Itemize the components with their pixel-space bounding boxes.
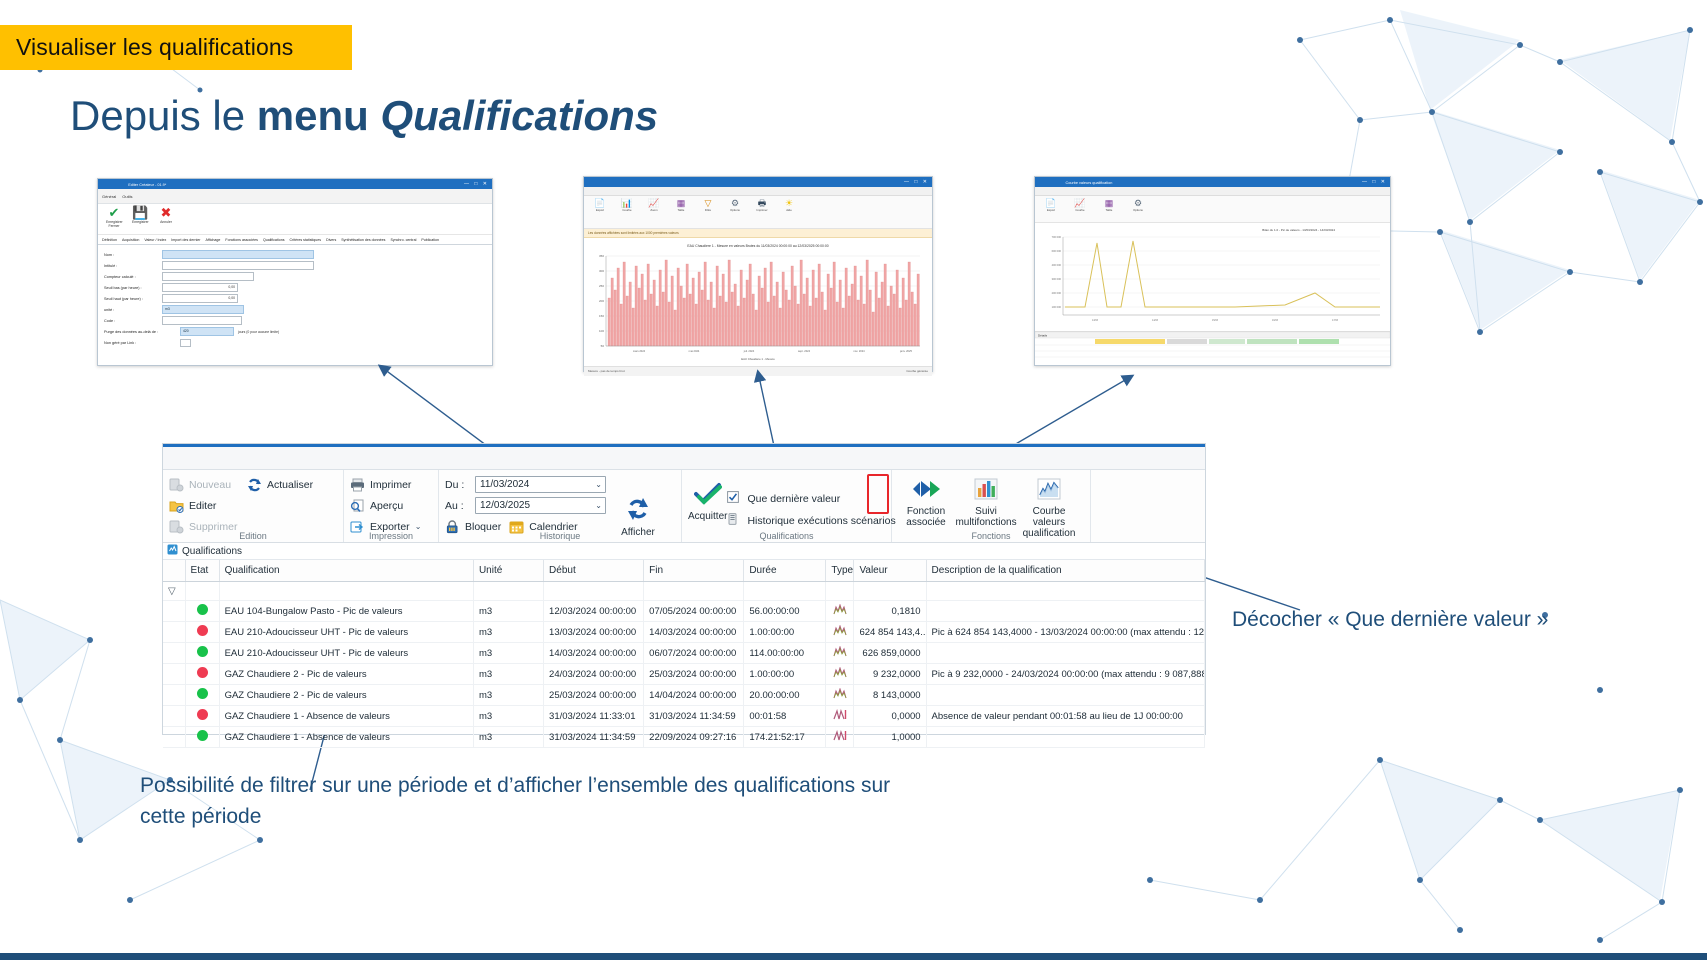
thumb1-label-intitule: Intitulé : xyxy=(104,264,162,268)
svg-text:400 000: 400 000 xyxy=(1052,263,1062,267)
cell-fin: 14/04/2024 00:00:00 xyxy=(644,685,744,706)
svg-text:15/03: 15/03 xyxy=(1212,319,1219,322)
table-header-spacer xyxy=(163,560,185,582)
svg-text:mai 2024: mai 2024 xyxy=(689,349,700,353)
cell-duree: 1.00:00:00 xyxy=(744,622,826,643)
thumb3-icon-chart[interactable]: 📈Courbe xyxy=(1070,198,1090,222)
checkbox-historique-label: Historique exécutions scénarios xyxy=(747,515,895,527)
thumb2-bar-chart-svg: EAU Chaudiere 1 - Mesure en valeurs Brut… xyxy=(584,238,932,366)
svg-text:juil. 2024: juil. 2024 xyxy=(743,349,755,353)
thumb1-tab-7[interactable]: Critères statistiques xyxy=(290,238,322,242)
thumb2-icon-print[interactable]: 🖶Imprimer xyxy=(752,198,772,228)
svg-text:EAU Chaudiere 1 - Mesure en va: EAU Chaudiere 1 - Mesure en valeurs Brut… xyxy=(687,244,828,248)
thumb2-icon-chart2[interactable]: 📈Zoom xyxy=(644,198,664,228)
table-row[interactable]: GAZ Chaudiere 1 - Absence de valeursm331… xyxy=(163,706,1205,727)
button-suivi-multifonctions-label: Suivi multifonctions xyxy=(955,506,1016,528)
ribbon-group-edition: Nouveau Actualiser Editer Supprimer xyxy=(163,470,344,542)
cell-type xyxy=(826,643,854,664)
thumb1-tab-9[interactable]: Synthétisation des données xyxy=(341,238,385,242)
slide-subtitle: Depuis le menu Qualifications xyxy=(70,92,658,140)
svg-text:Bilan du 1.0 - Pic de valeurs: Bilan du 1.0 - Pic de valeurs - 13/03/20… xyxy=(1262,228,1335,232)
annotation-bottom: Possibilité de filtrer sur une période e… xyxy=(140,770,940,832)
thumb1-input-seuilbas[interactable]: 0,00 xyxy=(162,283,238,292)
thumb1-input-code[interactable] xyxy=(162,316,242,325)
thumb1-tab-5[interactable]: Fonctions associées xyxy=(225,238,258,242)
thumb3-menubar[interactable] xyxy=(1035,187,1390,196)
table-row[interactable]: EAU 210-Adoucisseur UHT - Pic de valeurs… xyxy=(163,643,1205,664)
thumb1-label-nongere: Non géré par Link : xyxy=(104,341,180,345)
cell-description: Absence de valeur pendant 00:01:58 au li… xyxy=(926,706,1204,727)
peak-icon xyxy=(833,606,847,618)
subtitle-prefix: Depuis le xyxy=(70,92,257,139)
cell-debut: 13/03/2024 00:00:00 xyxy=(544,622,644,643)
app-ribbon[interactable]: Nouveau Actualiser Editer Supprimer xyxy=(163,470,1205,543)
app-tab-strip[interactable] xyxy=(163,447,1205,470)
cell-etat xyxy=(185,643,219,664)
thumb1-ribbon-tabs[interactable]: Général Outils xyxy=(98,189,492,204)
button-actualiser[interactable]: Actualiser xyxy=(247,474,313,495)
date-to-value: 12/03/2025 xyxy=(480,500,530,511)
status-dot-red xyxy=(197,625,208,636)
row-gutter xyxy=(163,664,185,685)
row-gutter xyxy=(163,643,185,664)
cell-etat xyxy=(185,664,219,685)
date-from-combo[interactable]: 11/03/2024 ⌄ xyxy=(475,476,606,493)
date-to-row: Au : 12/03/2025 ⌄ xyxy=(445,495,606,516)
thumb2-icon-export[interactable]: 📄Export xyxy=(590,198,610,228)
thumb1-tab-2[interactable]: Valeur / Index xyxy=(144,238,166,242)
table-header-duree[interactable]: Durée xyxy=(744,560,826,582)
filter-cell-unite[interactable] xyxy=(473,582,543,601)
filter-cell-debut[interactable] xyxy=(544,582,644,601)
thumb1-tab-8[interactable]: Divers xyxy=(326,238,336,242)
thumb2-icon-table[interactable]: ▦Table xyxy=(671,198,691,228)
thumbnail-bar-chart-window[interactable]: — □ ✕ 📄Export 📊Courbe 📈Zoom ▦Table ▽Filt… xyxy=(583,176,933,372)
ribbon-group-historique-title: Historique xyxy=(439,531,681,541)
cell-unite: m3 xyxy=(473,727,543,748)
ribbon-group-qualifications: Acquitter Que dernière valeur Historique… xyxy=(682,470,892,542)
thumb1-titlebar: Editer Créateur - 01.9* — □ ✕ xyxy=(98,179,492,189)
cell-debut: 14/03/2024 00:00:00 xyxy=(544,643,644,664)
cell-unite: m3 xyxy=(473,601,543,622)
svg-text:200: 200 xyxy=(599,299,604,303)
cell-debut: 25/03/2024 00:00:00 xyxy=(544,685,644,706)
svg-text:350: 350 xyxy=(599,254,604,258)
table-header-type[interactable]: Type xyxy=(826,560,854,582)
svg-text:17/03: 17/03 xyxy=(1332,319,1339,322)
thumb3-grid-svg: Détails xyxy=(1035,332,1390,362)
checkbox-historique-executions-scenarios[interactable]: Historique exécutions scénarios xyxy=(727,510,895,532)
preview-magnifier-icon xyxy=(350,499,365,513)
absence-icon xyxy=(833,732,847,744)
bar-chart-icon xyxy=(973,477,999,506)
thumb2-icon-filter[interactable]: ▽Filtre xyxy=(698,198,718,228)
cell-type xyxy=(826,601,854,622)
cell-valeur: 0,0000 xyxy=(854,706,926,727)
svg-text:600 000: 600 000 xyxy=(1052,249,1062,253)
filter-cell-fin[interactable] xyxy=(644,582,744,601)
chevron-down-icon[interactable]: ⌄ xyxy=(595,480,602,489)
svg-text:14/03: 14/03 xyxy=(1152,319,1159,322)
status-dot-red xyxy=(197,709,208,720)
cell-qualification: GAZ Chaudiere 1 - Absence de valeurs xyxy=(219,727,473,748)
cell-duree: 00:01:58 xyxy=(744,706,826,727)
thumb1-input-purge[interactable]: 420 xyxy=(180,327,234,336)
row-gutter xyxy=(163,685,185,706)
cell-type xyxy=(826,706,854,727)
slide-bottom-bar xyxy=(0,953,1707,960)
table-header-qualification[interactable]: Qualification xyxy=(219,560,473,582)
cell-unite: m3 xyxy=(473,685,543,706)
cell-duree: 56.00:00:00 xyxy=(744,601,826,622)
thumb1-title: Editer Créateur - 01.9* xyxy=(100,182,167,187)
filter-toggle-cell[interactable]: ▽ xyxy=(163,582,185,601)
thumb3-icon-export[interactable]: 📄Export xyxy=(1041,198,1061,222)
button-editer[interactable]: Editer xyxy=(169,495,337,516)
svg-text:nov. 2024: nov. 2024 xyxy=(853,349,865,353)
thumb1-field-row: Seuil haut (par heure) :0,00 xyxy=(104,293,486,304)
cell-fin: 22/09/2024 09:27:16 xyxy=(644,727,744,748)
thumb2-ribbon[interactable]: 📄Export 📊Courbe 📈Zoom ▦Table ▽Filtre ⚙Op… xyxy=(584,196,932,229)
chevron-down-icon[interactable]: ⌄ xyxy=(415,522,422,531)
thumb1-input-intitule[interactable] xyxy=(162,261,314,270)
status-dot-green xyxy=(197,730,208,741)
ribbon-group-fonctions: Fonction associée Suivi multifonctions C… xyxy=(892,470,1091,542)
thumb1-field-row: Code : xyxy=(104,315,486,326)
thumb3-titlebar: Courbe valeurs qualification — □ ✕ xyxy=(1035,177,1390,187)
cell-qualification: EAU 104-Bungalow Pasto - Pic de valeurs xyxy=(219,601,473,622)
cell-qualification: GAZ Chaudiere 2 - Pic de valeurs xyxy=(219,664,473,685)
thumb1-tab-10[interactable]: Synchro. central xyxy=(390,238,416,242)
thumbnail-line-chart-window[interactable]: Courbe valeurs qualification — □ ✕ 📄Expo… xyxy=(1034,176,1391,366)
cell-qualification: GAZ Chaudiere 1 - Absence de valeurs xyxy=(219,706,473,727)
thumb2-statusbar: Mesure - pas de temps brut Courbe généré… xyxy=(584,366,932,376)
button-nouveau-label: Nouveau xyxy=(189,479,231,491)
cell-etat xyxy=(185,727,219,748)
ribbon-group-fonctions-title: Fonctions xyxy=(892,531,1090,541)
ribbon-group-qualifications-title: Qualifications xyxy=(682,531,891,541)
check-mark-icon xyxy=(694,482,722,511)
cell-etat xyxy=(185,601,219,622)
cell-type xyxy=(826,622,854,643)
cell-unite: m3 xyxy=(473,622,543,643)
thumb1-cancel-icon[interactable]: ✖Annuler xyxy=(158,206,174,234)
cell-qualification: EAU 210-Adoucisseur UHT - Pic de valeurs xyxy=(219,622,473,643)
thumb3-line-chart-svg: Bilan du 1.0 - Pic de valeurs - 13/03/20… xyxy=(1035,223,1390,331)
thumb3-chart-area: Bilan du 1.0 - Pic de valeurs - 13/03/20… xyxy=(1035,223,1390,331)
status-dot-green xyxy=(197,688,208,699)
thumb1-label-purge: Purge des données au-delà de : xyxy=(104,330,180,334)
thumb1-tab-outils[interactable]: Outils xyxy=(122,194,132,199)
annotation-right: Décocher « Que dernière valeur » xyxy=(1232,604,1552,635)
date-from-row: Du : 11/03/2024 ⌄ xyxy=(445,474,606,495)
cell-etat xyxy=(185,685,219,706)
table-header-row: Etat Qualification Unité Début Fin Durée… xyxy=(163,560,1205,582)
peak-icon xyxy=(833,690,847,702)
thumb1-label-seuilbas: Seuil bas (par heure) : xyxy=(104,286,162,290)
table-row[interactable]: GAZ Chaudiere 2 - Pic de valeursm324/03/… xyxy=(163,664,1205,685)
date-to-label: Au : xyxy=(445,500,471,512)
ribbon-group-historique: Du : 11/03/2024 ⌄ Au : 12/03/2025 ⌄ xyxy=(439,470,682,542)
thumb2-icon-help[interactable]: ☀Aide xyxy=(779,198,799,228)
date-to-combo[interactable]: 12/03/2025 ⌄ xyxy=(475,497,606,514)
refresh-icon xyxy=(247,478,262,492)
status-dot-green xyxy=(197,604,208,615)
filter-cell-type[interactable] xyxy=(826,582,854,601)
ribbon-filler xyxy=(1091,470,1205,542)
subtitle-bold: menu xyxy=(257,92,381,139)
checkbox-icon[interactable] xyxy=(727,491,741,506)
checkbox-que-derniere-valeur-label: Que dernière valeur xyxy=(747,493,840,505)
document-tab-bar[interactable]: Qualifications xyxy=(163,543,1205,560)
slide-title-band: Visualiser les qualifications xyxy=(0,25,352,70)
thumb1-tab-general[interactable]: Général xyxy=(102,194,116,199)
button-apercu-label: Aperçu xyxy=(370,500,403,512)
double-chevron-icon xyxy=(911,477,941,506)
thumb2-icon-chart1[interactable]: 📊Courbe xyxy=(617,198,637,228)
svg-text:EAU Chaudiere 1 - Mesure: EAU Chaudiere 1 - Mesure xyxy=(741,357,775,361)
table-body: ▽ EAU 104-Bungalow Pasto - Pic de valeur… xyxy=(163,582,1205,748)
thumb1-input-nom[interactable] xyxy=(162,250,314,259)
thumb1-label-unite: unité : xyxy=(104,308,162,312)
thumb3-title: Courbe valeurs qualification xyxy=(1037,180,1112,185)
peak-icon xyxy=(833,627,847,639)
thumb1-tab-strip[interactable]: Définition Acquisition Valeur / Index Im… xyxy=(98,235,492,245)
thumb2-warning-banner: Les données affichées sont limitées aux … xyxy=(584,229,932,238)
cell-type xyxy=(826,685,854,706)
svg-text:janv. 2025: janv. 2025 xyxy=(899,349,912,353)
row-gutter xyxy=(163,706,185,727)
thumb2-status-right: Courbe générée xyxy=(906,367,932,376)
filter-cell-etat[interactable] xyxy=(185,582,219,601)
thumb1-label-nom: Nom : xyxy=(104,253,162,257)
scenario-history-icon xyxy=(727,513,741,528)
cell-unite: m3 xyxy=(473,664,543,685)
refresh-arrows-icon xyxy=(625,496,651,527)
button-imprimer[interactable]: Imprimer xyxy=(350,474,432,495)
area-chart-icon xyxy=(1036,477,1062,506)
thumb1-field-row: Non géré par Link : xyxy=(104,337,486,348)
cell-unite: m3 xyxy=(473,643,543,664)
cell-etat xyxy=(185,622,219,643)
thumb1-purge-suffix: jours (0 pour aucune limite) xyxy=(238,330,279,334)
filter-cell-qualification[interactable] xyxy=(219,582,473,601)
cell-fin: 31/03/2024 11:34:59 xyxy=(644,706,744,727)
thumb1-label-compteur: Compteur calculé : xyxy=(104,275,162,279)
svg-text:Détails: Détails xyxy=(1038,333,1048,337)
table-row[interactable]: GAZ Chaudiere 1 - Absence de valeursm331… xyxy=(163,727,1205,748)
table-row[interactable]: EAU 104-Bungalow Pasto - Pic de valeursm… xyxy=(163,601,1205,622)
button-actualiser-label: Actualiser xyxy=(267,479,313,491)
table-row[interactable]: GAZ Chaudiere 2 - Pic de valeursm325/03/… xyxy=(163,685,1205,706)
thumb3-icon-settings[interactable]: ⚙Options xyxy=(1128,198,1148,222)
peak-icon xyxy=(833,648,847,660)
thumb1-input-unite[interactable]: m3 xyxy=(162,305,244,314)
slide-title-text: Visualiser les qualifications xyxy=(0,25,352,70)
thumb2-menubar[interactable] xyxy=(584,187,932,196)
svg-text:sept. 2024: sept. 2024 xyxy=(798,349,811,353)
cell-description: Pic à 9 232,0000 - 24/03/2024 00:00:00 (… xyxy=(926,664,1204,685)
table-header-etat[interactable]: Etat xyxy=(185,560,219,582)
cell-unite: m3 xyxy=(473,706,543,727)
cell-fin: 06/07/2024 00:00:00 xyxy=(644,643,744,664)
button-editer-label: Editer xyxy=(189,500,216,512)
thumb1-field-row: Purge des données au-delà de :420jours (… xyxy=(104,326,486,337)
thumb1-field-row: unité :m3 xyxy=(104,304,486,315)
thumb1-ribbon-buttons[interactable]: ✔EnregistrerFermer 💾Enregistrer ✖Annuler xyxy=(98,204,492,235)
cell-duree: 1.00:00:00 xyxy=(744,664,826,685)
thumb1-label-seuilhaut: Seuil haut (par heure) : xyxy=(104,297,162,301)
thumb1-save-close-icon[interactable]: ✔EnregistrerFermer xyxy=(106,206,122,234)
button-fonction-associee-label: Fonction associée xyxy=(898,506,954,528)
checkbox-que-derniere-valeur[interactable]: Que dernière valeur xyxy=(727,488,895,510)
thumb2-window-controls[interactable]: — □ ✕ xyxy=(904,179,932,185)
cell-debut: 24/03/2024 00:00:00 xyxy=(544,664,644,685)
thumb1-form: Nom : Intitulé : Compteur calculé : Seui… xyxy=(98,245,492,352)
ribbon-group-impression: Imprimer Aperçu Exporter ⌄ Impression xyxy=(344,470,439,542)
cell-description xyxy=(926,685,1204,706)
ribbon-group-edition-title: Edition xyxy=(163,531,343,541)
thumb1-tab-3[interactable]: Import des dernier xyxy=(171,238,200,242)
thumb3-icon-table[interactable]: ▦Table xyxy=(1099,198,1119,222)
date-from-label: Du : xyxy=(445,479,471,491)
thumb1-field-row: Compteur calculé : xyxy=(104,271,486,282)
document-tab-label: Qualifications xyxy=(182,546,242,557)
filter-cell-valeur[interactable] xyxy=(854,582,926,601)
table-header-debut[interactable]: Début xyxy=(544,560,644,582)
status-dot-green xyxy=(197,646,208,657)
thumb2-status-left: Mesure - pas de temps brut xyxy=(584,367,625,376)
thumb1-tab-1[interactable]: Acquisition xyxy=(122,238,139,242)
subtitle-italic: Qualifications xyxy=(380,92,658,139)
peak-icon xyxy=(833,669,847,681)
thumb3-data-grid[interactable]: Détails xyxy=(1035,331,1390,362)
cell-valeur: 8 143,0000 xyxy=(854,685,926,706)
cell-type xyxy=(826,727,854,748)
svg-text:13/03: 13/03 xyxy=(1092,319,1099,322)
cell-duree: 174.21:52:17 xyxy=(744,727,826,748)
button-apercu[interactable]: Aperçu xyxy=(350,495,432,516)
cell-qualification: GAZ Chaudiere 2 - Pic de valeurs xyxy=(219,685,473,706)
thumb1-field-row: Seuil bas (par heure) :0,00 xyxy=(104,282,486,293)
row-gutter xyxy=(163,727,185,748)
new-document-icon xyxy=(169,478,184,492)
svg-text:300 000: 300 000 xyxy=(1052,277,1062,281)
svg-text:700 000: 700 000 xyxy=(1052,235,1062,239)
cell-description xyxy=(926,601,1204,622)
svg-text:50: 50 xyxy=(601,344,605,348)
thumb1-tab-0[interactable]: Définition xyxy=(102,238,117,242)
printer-icon xyxy=(350,478,365,492)
qualifications-table[interactable]: Etat Qualification Unité Début Fin Durée… xyxy=(163,560,1205,748)
thumb1-tab-6[interactable]: Qualifications xyxy=(263,238,285,242)
thumb1-field-row: Nom : xyxy=(104,249,486,260)
cell-fin: 14/03/2024 00:00:00 xyxy=(644,622,744,643)
cell-duree: 20.00:00:00 xyxy=(744,685,826,706)
svg-text:150: 150 xyxy=(599,314,604,318)
cell-valeur: 626 859,0000 xyxy=(854,643,926,664)
filter-cell-description[interactable] xyxy=(926,582,1204,601)
cell-fin: 25/03/2024 00:00:00 xyxy=(644,664,744,685)
thumb1-tab-11[interactable]: Publication xyxy=(421,238,439,242)
edit-folder-icon xyxy=(169,499,184,513)
cell-description xyxy=(926,727,1204,748)
thumb3-ribbon[interactable]: 📄Export 📈Courbe ▦Table ⚙Options xyxy=(1035,196,1390,223)
cell-valeur: 624 854 143,4... xyxy=(854,622,926,643)
table-row[interactable]: EAU 210-Adoucisseur UHT - Pic de valeurs… xyxy=(163,622,1205,643)
row-gutter xyxy=(163,622,185,643)
svg-text:200 000: 200 000 xyxy=(1052,291,1062,295)
thumb3-window-controls[interactable]: — □ ✕ xyxy=(1362,179,1390,185)
thumbnail-editor-window[interactable]: Editer Créateur - 01.9* — □ ✕ Général Ou… xyxy=(97,178,493,366)
table-filter-row[interactable]: ▽ xyxy=(163,582,1205,601)
cell-qualification: EAU 210-Adoucisseur UHT - Pic de valeurs xyxy=(219,643,473,664)
thumb1-save-icon[interactable]: 💾Enregistrer xyxy=(132,206,148,234)
qualifications-icon xyxy=(167,542,178,560)
table-header-valeur[interactable]: Valeur xyxy=(854,560,926,582)
filter-cell-duree[interactable] xyxy=(744,582,826,601)
cell-duree: 114.00:00:00 xyxy=(744,643,826,664)
thumb1-window-controls[interactable]: — □ ✕ xyxy=(464,181,492,187)
chevron-down-icon[interactable]: ⌄ xyxy=(595,501,602,510)
cell-etat xyxy=(185,706,219,727)
svg-text:100 000: 100 000 xyxy=(1052,305,1062,309)
thumb2-icon-settings[interactable]: ⚙Options xyxy=(725,198,745,228)
cell-valeur: 9 232,0000 xyxy=(854,664,926,685)
row-gutter xyxy=(163,601,185,622)
cell-debut: 31/03/2024 11:33:01 xyxy=(544,706,644,727)
button-imprimer-label: Imprimer xyxy=(370,479,411,491)
cell-valeur: 0,1810 xyxy=(854,601,926,622)
status-dot-red xyxy=(197,667,208,678)
thumb1-field-row: Intitulé : xyxy=(104,260,486,271)
cell-debut: 12/03/2024 00:00:00 xyxy=(544,601,644,622)
thumb1-input-seuilhaut[interactable]: 0,00 xyxy=(162,294,238,303)
cell-valeur: 1,0000 xyxy=(854,727,926,748)
svg-text:100: 100 xyxy=(599,329,604,333)
cell-debut: 31/03/2024 11:34:59 xyxy=(544,727,644,748)
button-acquitter-label: Acquitter xyxy=(688,511,727,522)
table-header-fin[interactable]: Fin xyxy=(644,560,744,582)
thumb1-tab-4[interactable]: Affichage xyxy=(205,238,220,242)
thumb2-chart-area: EAU Chaudiere 1 - Mesure en valeurs Brut… xyxy=(584,238,932,366)
ribbon-group-impression-title: Impression xyxy=(344,531,438,541)
cell-description: Pic à 624 854 143,4000 - 13/03/2024 00:0… xyxy=(926,622,1204,643)
svg-text:16/03: 16/03 xyxy=(1272,319,1279,322)
table-header-unite[interactable]: Unité xyxy=(473,560,543,582)
table-header-description[interactable]: Description de la qualification xyxy=(926,560,1204,582)
absence-icon xyxy=(833,711,847,723)
cell-type xyxy=(826,664,854,685)
cell-description xyxy=(926,643,1204,664)
svg-text:300: 300 xyxy=(599,269,604,273)
svg-text:mars 2024: mars 2024 xyxy=(633,349,646,353)
svg-text:250: 250 xyxy=(599,284,604,288)
date-from-value: 11/03/2024 xyxy=(480,479,529,490)
thumb2-titlebar: — □ ✕ xyxy=(584,177,932,187)
filter-icon[interactable]: ▽ xyxy=(168,586,176,597)
cell-fin: 07/05/2024 00:00:00 xyxy=(644,601,744,622)
thumb1-checkbox-nongere[interactable] xyxy=(180,339,191,347)
qualifications-application-window[interactable]: Nouveau Actualiser Editer Supprimer xyxy=(162,443,1206,735)
thumb1-input-compteur[interactable] xyxy=(162,272,254,281)
thumb1-label-code: Code : xyxy=(104,319,162,323)
